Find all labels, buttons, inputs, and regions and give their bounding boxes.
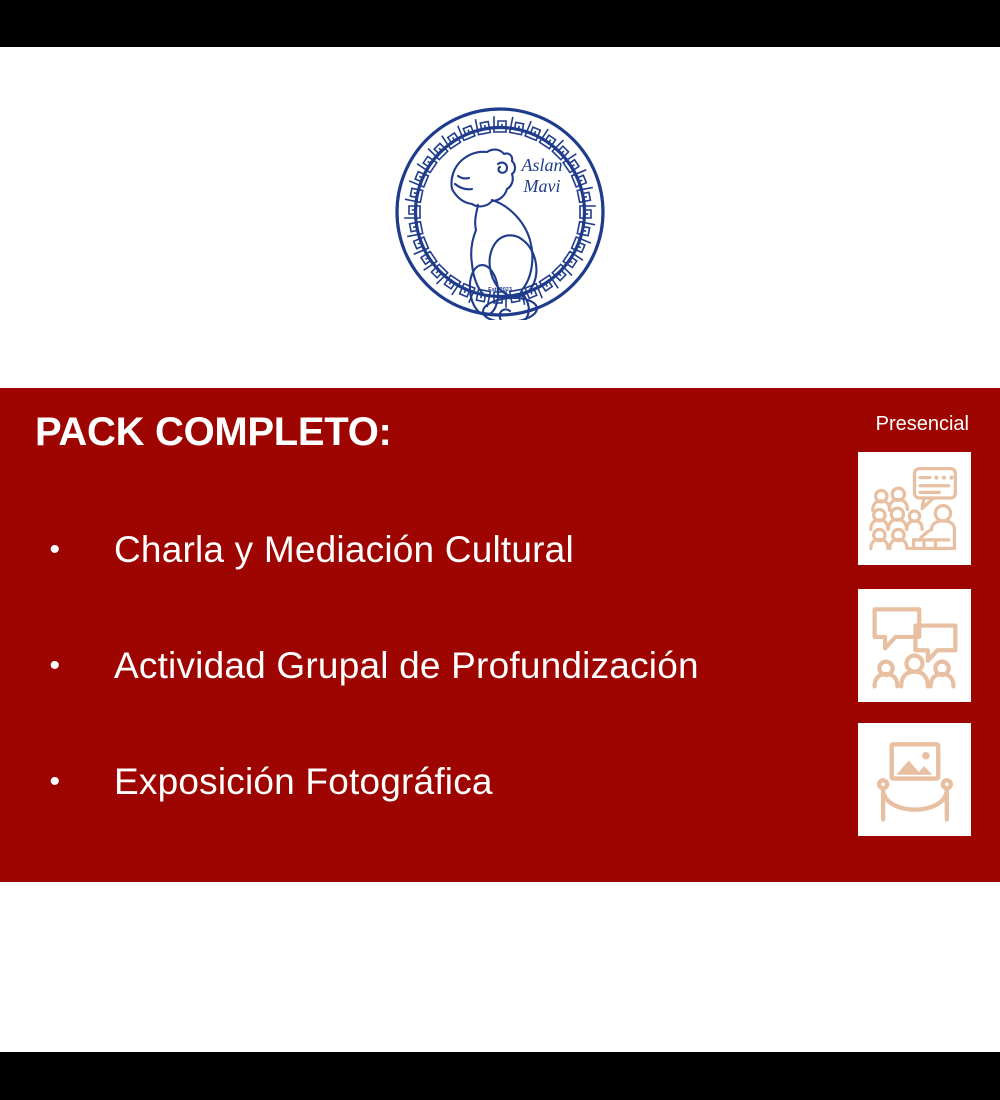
group-discussion-icon (867, 598, 962, 693)
bullet-marker-icon: • (0, 651, 60, 681)
list-item: • Exposición Fotográfica (0, 724, 820, 840)
icon-tile-charla (858, 452, 971, 565)
logo-zone: Aslan Mavi Est. 2023 (0, 47, 1000, 388)
icon-tile-exposicion (858, 723, 971, 836)
slide-canvas: Aslan Mavi Est. 2023 PACK COMPLETO: Pres… (0, 0, 1000, 1100)
letterbox-bar-bottom (0, 1052, 1000, 1100)
photo-exhibition-icon (867, 732, 962, 827)
logo-established-text: Est. 2023 (488, 287, 512, 293)
logo-brand-line1: Aslan (520, 155, 562, 175)
list-item-label: Actividad Grupal de Profundización (60, 645, 699, 687)
modality-label: Presencial (876, 413, 969, 436)
list-item: • Actividad Grupal de Profundización (0, 608, 820, 724)
list-item: • Charla y Mediación Cultural (0, 492, 820, 608)
letterbox-bar-top (0, 0, 1000, 47)
feature-list: • Charla y Mediación Cultural • Activida… (0, 492, 820, 840)
list-item-label: Charla y Mediación Cultural (60, 529, 574, 571)
lecture-audience-icon (867, 461, 962, 556)
list-item-label: Exposición Fotográfica (60, 761, 493, 803)
content-band: PACK COMPLETO: Presencial • Charla y Med… (0, 388, 1000, 882)
logo-brand-line2: Mavi (523, 176, 561, 196)
bullet-marker-icon: • (0, 767, 60, 797)
aslan-mavi-logo: Aslan Mavi Est. 2023 (392, 104, 608, 320)
bullet-marker-icon: • (0, 535, 60, 565)
icon-tile-actividad (858, 589, 971, 702)
page-title: PACK COMPLETO: (35, 410, 392, 455)
